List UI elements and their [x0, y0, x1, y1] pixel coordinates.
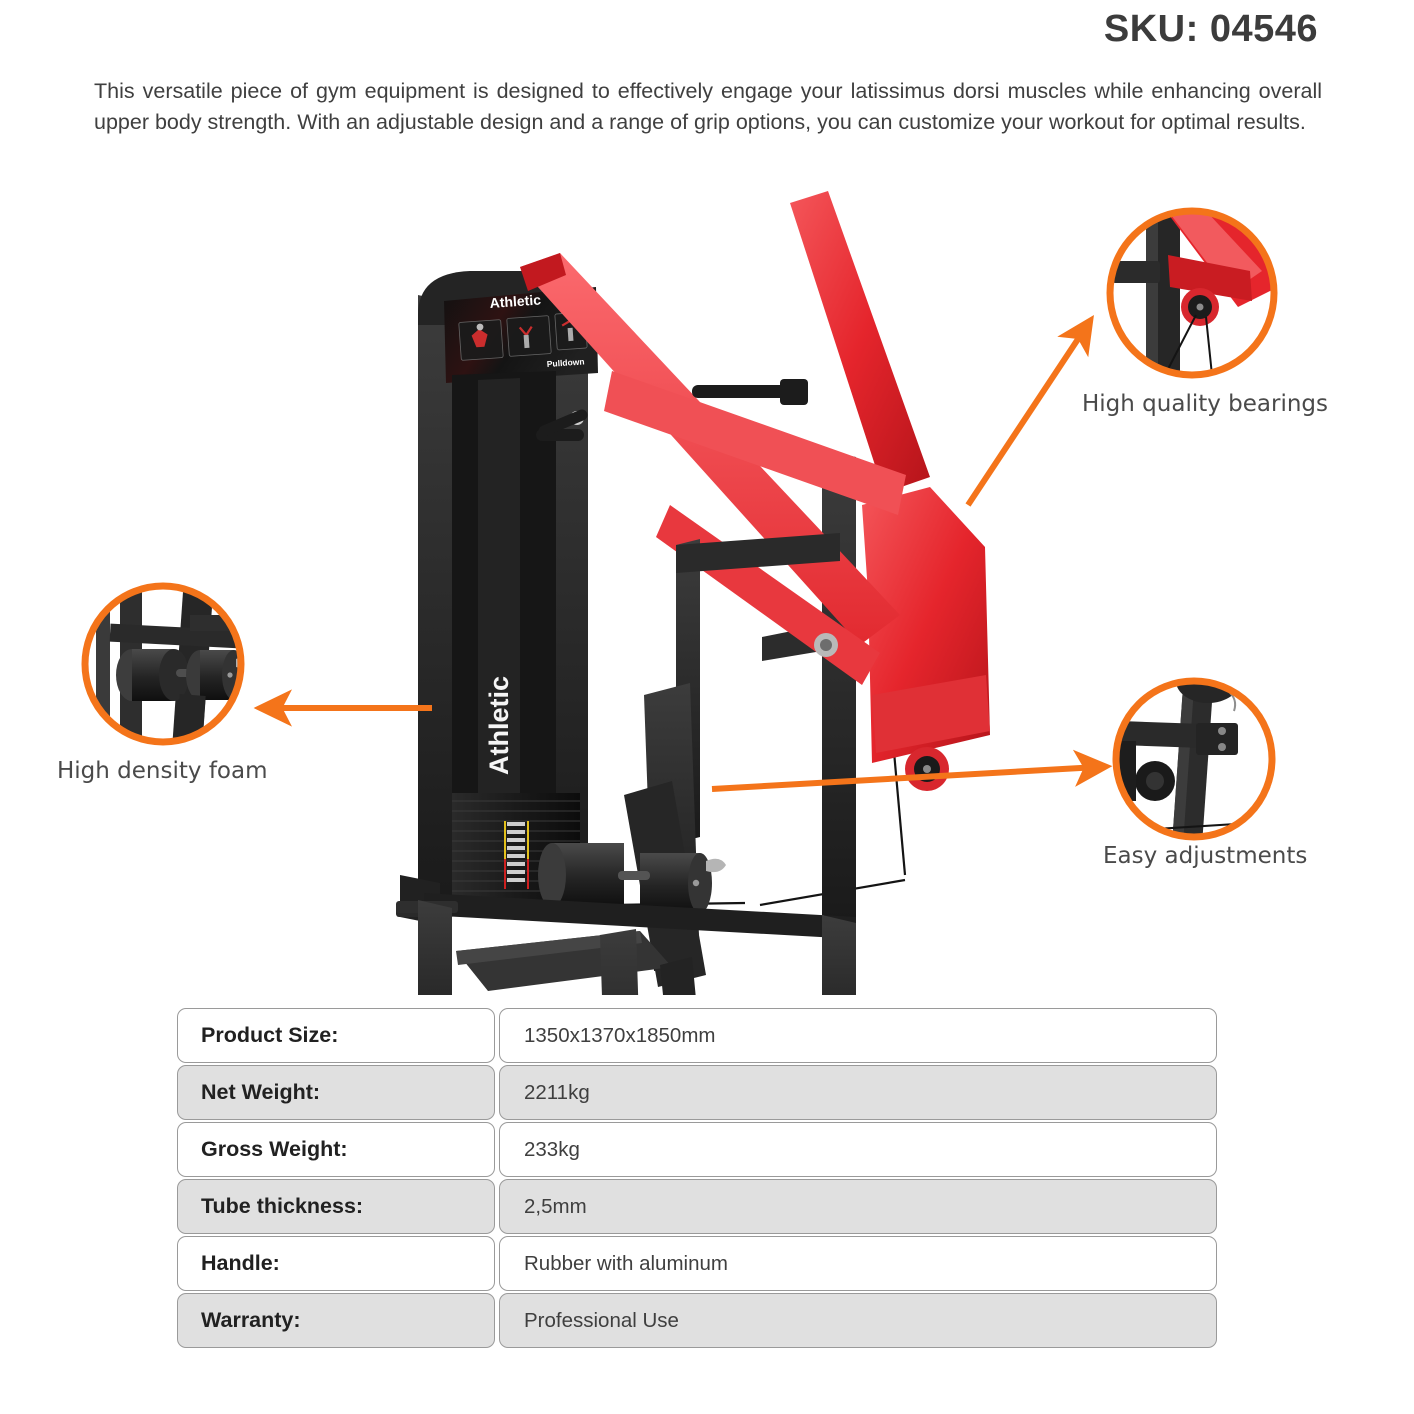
callout-circle-adjustments: [1116, 659, 1272, 838]
table-row: Handle: Rubber with aluminum: [177, 1236, 1217, 1291]
callout-circle-foam: [85, 585, 254, 745]
sku-label: SKU: 04546: [1104, 8, 1318, 51]
table-row: Tube thickness: 2,5mm: [177, 1179, 1217, 1234]
table-row: Product Size: 1350x1370x1850mm: [177, 1008, 1217, 1063]
spec-value: 233kg: [499, 1122, 1217, 1177]
spec-key: Product Size:: [177, 1008, 495, 1063]
table-row: Warranty: Professional Use: [177, 1293, 1217, 1348]
callout-label-foam: High density foam: [57, 758, 267, 784]
product-description: This versatile piece of gym equipment is…: [94, 76, 1322, 138]
spec-value: 2,5mm: [499, 1179, 1217, 1234]
spec-value: Rubber with aluminum: [499, 1236, 1217, 1291]
callout-circle-bearings: [1110, 211, 1290, 375]
specification-table: Product Size: 1350x1370x1850mm Net Weigh…: [177, 1008, 1217, 1350]
spec-value: Professional Use: [499, 1293, 1217, 1348]
spec-key: Tube thickness:: [177, 1179, 495, 1234]
table-row: Net Weight: 2211kg: [177, 1065, 1217, 1120]
spec-key: Gross Weight:: [177, 1122, 495, 1177]
spec-value: 1350x1370x1850mm: [499, 1008, 1217, 1063]
product-illustration: Athletic Pulldown Athletic: [0, 175, 1414, 995]
arrow-to-adjustments: [712, 767, 1098, 789]
arrow-to-bearings: [968, 327, 1086, 505]
callout-overlay: [0, 175, 1414, 995]
spec-key: Net Weight:: [177, 1065, 495, 1120]
table-row: Gross Weight: 233kg: [177, 1122, 1217, 1177]
spec-key: Handle:: [177, 1236, 495, 1291]
callout-label-adjustments: Easy adjustments: [1103, 843, 1307, 869]
spec-value: 2211kg: [499, 1065, 1217, 1120]
spec-key: Warranty:: [177, 1293, 495, 1348]
callout-label-bearings: High quality bearings: [1082, 391, 1328, 417]
